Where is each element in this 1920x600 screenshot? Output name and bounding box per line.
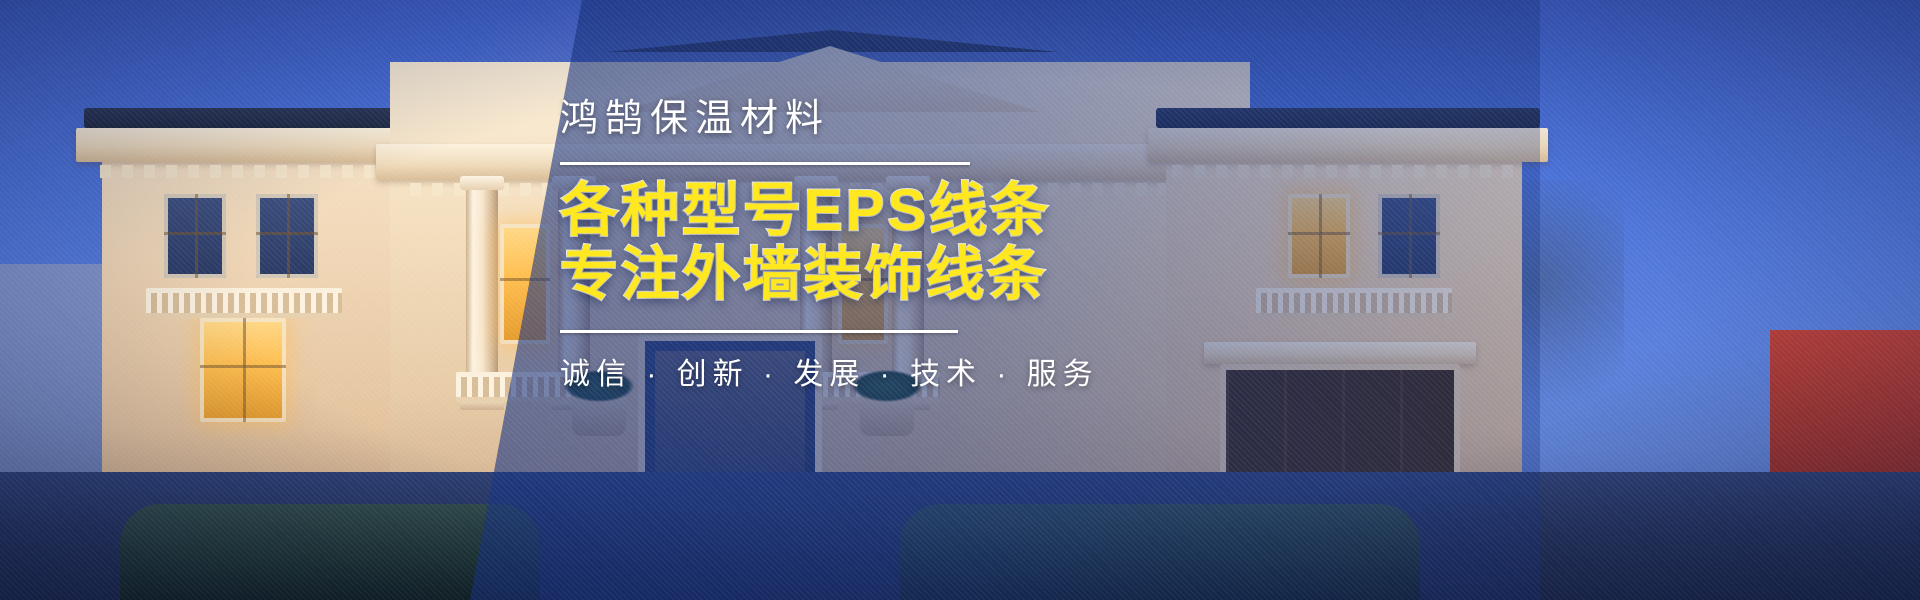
window-mullion — [243, 318, 246, 422]
window-mullion — [200, 365, 286, 368]
company-name: 鸿鹄保温材料 — [560, 96, 1540, 144]
headline-line-2: 专注外墙装饰线条 — [560, 243, 1540, 308]
balustrade-left — [146, 288, 342, 318]
headline-line-1: 各种型号EPS线条 — [560, 179, 1540, 244]
divider-top — [560, 162, 970, 165]
window-left-upper-b — [256, 194, 318, 278]
window-mullion — [195, 194, 198, 278]
red-structure-right — [1770, 330, 1920, 480]
window-mullion — [287, 194, 290, 278]
window-left-lower — [200, 318, 286, 422]
window-mullion — [256, 232, 318, 235]
window-left-upper-a — [164, 194, 226, 278]
column-1 — [466, 188, 498, 402]
divider-bottom — [560, 330, 958, 333]
company-tagline: 诚信 · 创新 · 发展 · 技术 · 服务 — [560, 349, 1540, 393]
banner-copy: 鸿鹄保温材料 各种型号EPS线条 专注外墙装饰线条 诚信 · 创新 · 发展 ·… — [560, 96, 1540, 393]
window-mullion — [164, 232, 226, 235]
promotional-banner: 鸿鹄保温材料 各种型号EPS线条 专注外墙装饰线条 诚信 · 创新 · 发展 ·… — [0, 0, 1920, 600]
